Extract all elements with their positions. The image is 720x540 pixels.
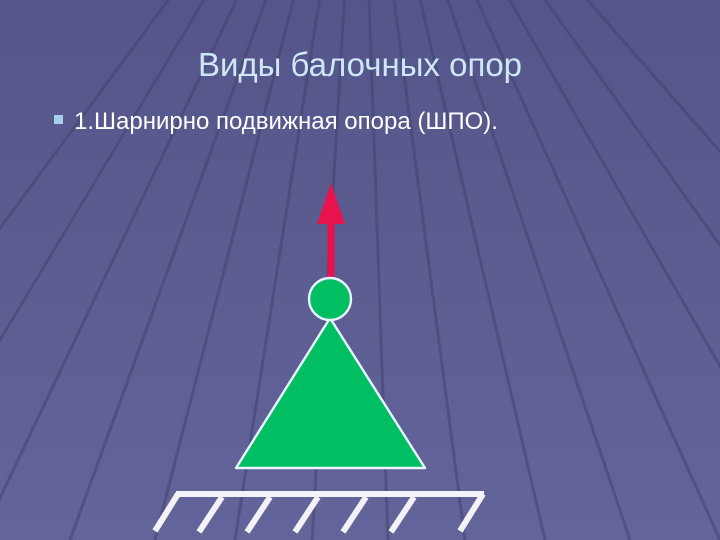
square-bullet-icon <box>54 115 63 124</box>
bullet-list-item: 1.Шарнирно подвижная опора (ШПО). <box>54 108 498 136</box>
presentation-slide: Виды балочных опор 1.Шарнирно подвижная … <box>0 0 720 540</box>
bullet-item-label: 1.Шарнирно подвижная опора (ШПО). <box>74 108 498 136</box>
slide-title: Виды балочных опор <box>0 46 720 84</box>
